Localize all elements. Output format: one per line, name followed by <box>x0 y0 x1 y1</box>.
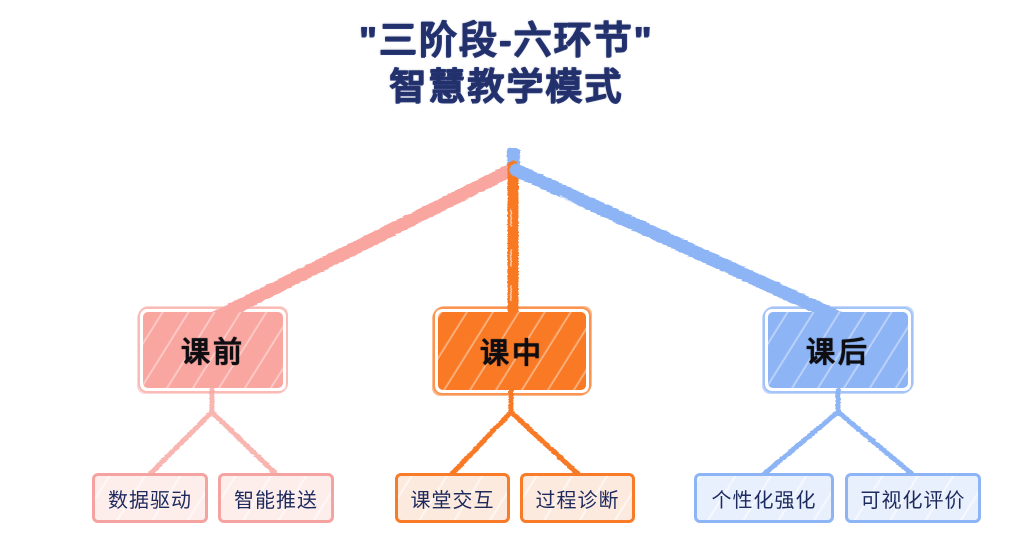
leaf-box-visual-evaluation[interactable]: 可视化评价 <box>845 473 981 523</box>
branch-pre-left <box>150 412 212 474</box>
branch-post-left <box>764 412 838 474</box>
title-line-2: 智慧教学模式 <box>0 64 1012 109</box>
leaf-box-smart-push[interactable]: 智能推送 <box>218 473 334 523</box>
stage-box-pre[interactable]: 课前 <box>143 312 283 388</box>
leaf-label: 智能推送 <box>234 484 318 513</box>
leaf-label: 过程诊断 <box>536 484 620 513</box>
stage-box-post[interactable]: 课后 <box>768 312 908 388</box>
branch-pre-right <box>212 412 276 474</box>
trunk-post <box>516 170 840 318</box>
diagram-canvas: "三阶段-六环节" 智慧教学模式 <box>0 0 1012 555</box>
trunk-pre <box>215 170 511 318</box>
root-stub <box>507 148 520 178</box>
leaf-box-personalized-reinforcement[interactable]: 个性化强化 <box>694 473 834 523</box>
leaf-box-classroom-interaction[interactable]: 课堂交互 <box>395 473 510 523</box>
leaf-label: 课堂交互 <box>411 484 495 513</box>
title-line-1: "三阶段-六环节" <box>0 18 1012 64</box>
page-title: "三阶段-六环节" 智慧教学模式 <box>0 18 1012 109</box>
stage-label-pre: 课前 <box>181 329 245 371</box>
stage-label-mid: 课中 <box>480 330 544 372</box>
stage-label-post: 课后 <box>806 329 870 371</box>
branch-post-right <box>838 412 912 474</box>
leaf-box-data-driven[interactable]: 数据驱动 <box>92 473 208 523</box>
leaf-label: 数据驱动 <box>108 484 192 513</box>
branch-mid-right <box>511 412 578 474</box>
leaf-label: 个性化强化 <box>712 484 817 513</box>
branch-mid-left <box>452 412 511 474</box>
stage-box-mid[interactable]: 课中 <box>438 312 586 390</box>
leaf-label: 可视化评价 <box>861 484 966 513</box>
leaf-box-process-diagnosis[interactable]: 过程诊断 <box>520 473 635 523</box>
